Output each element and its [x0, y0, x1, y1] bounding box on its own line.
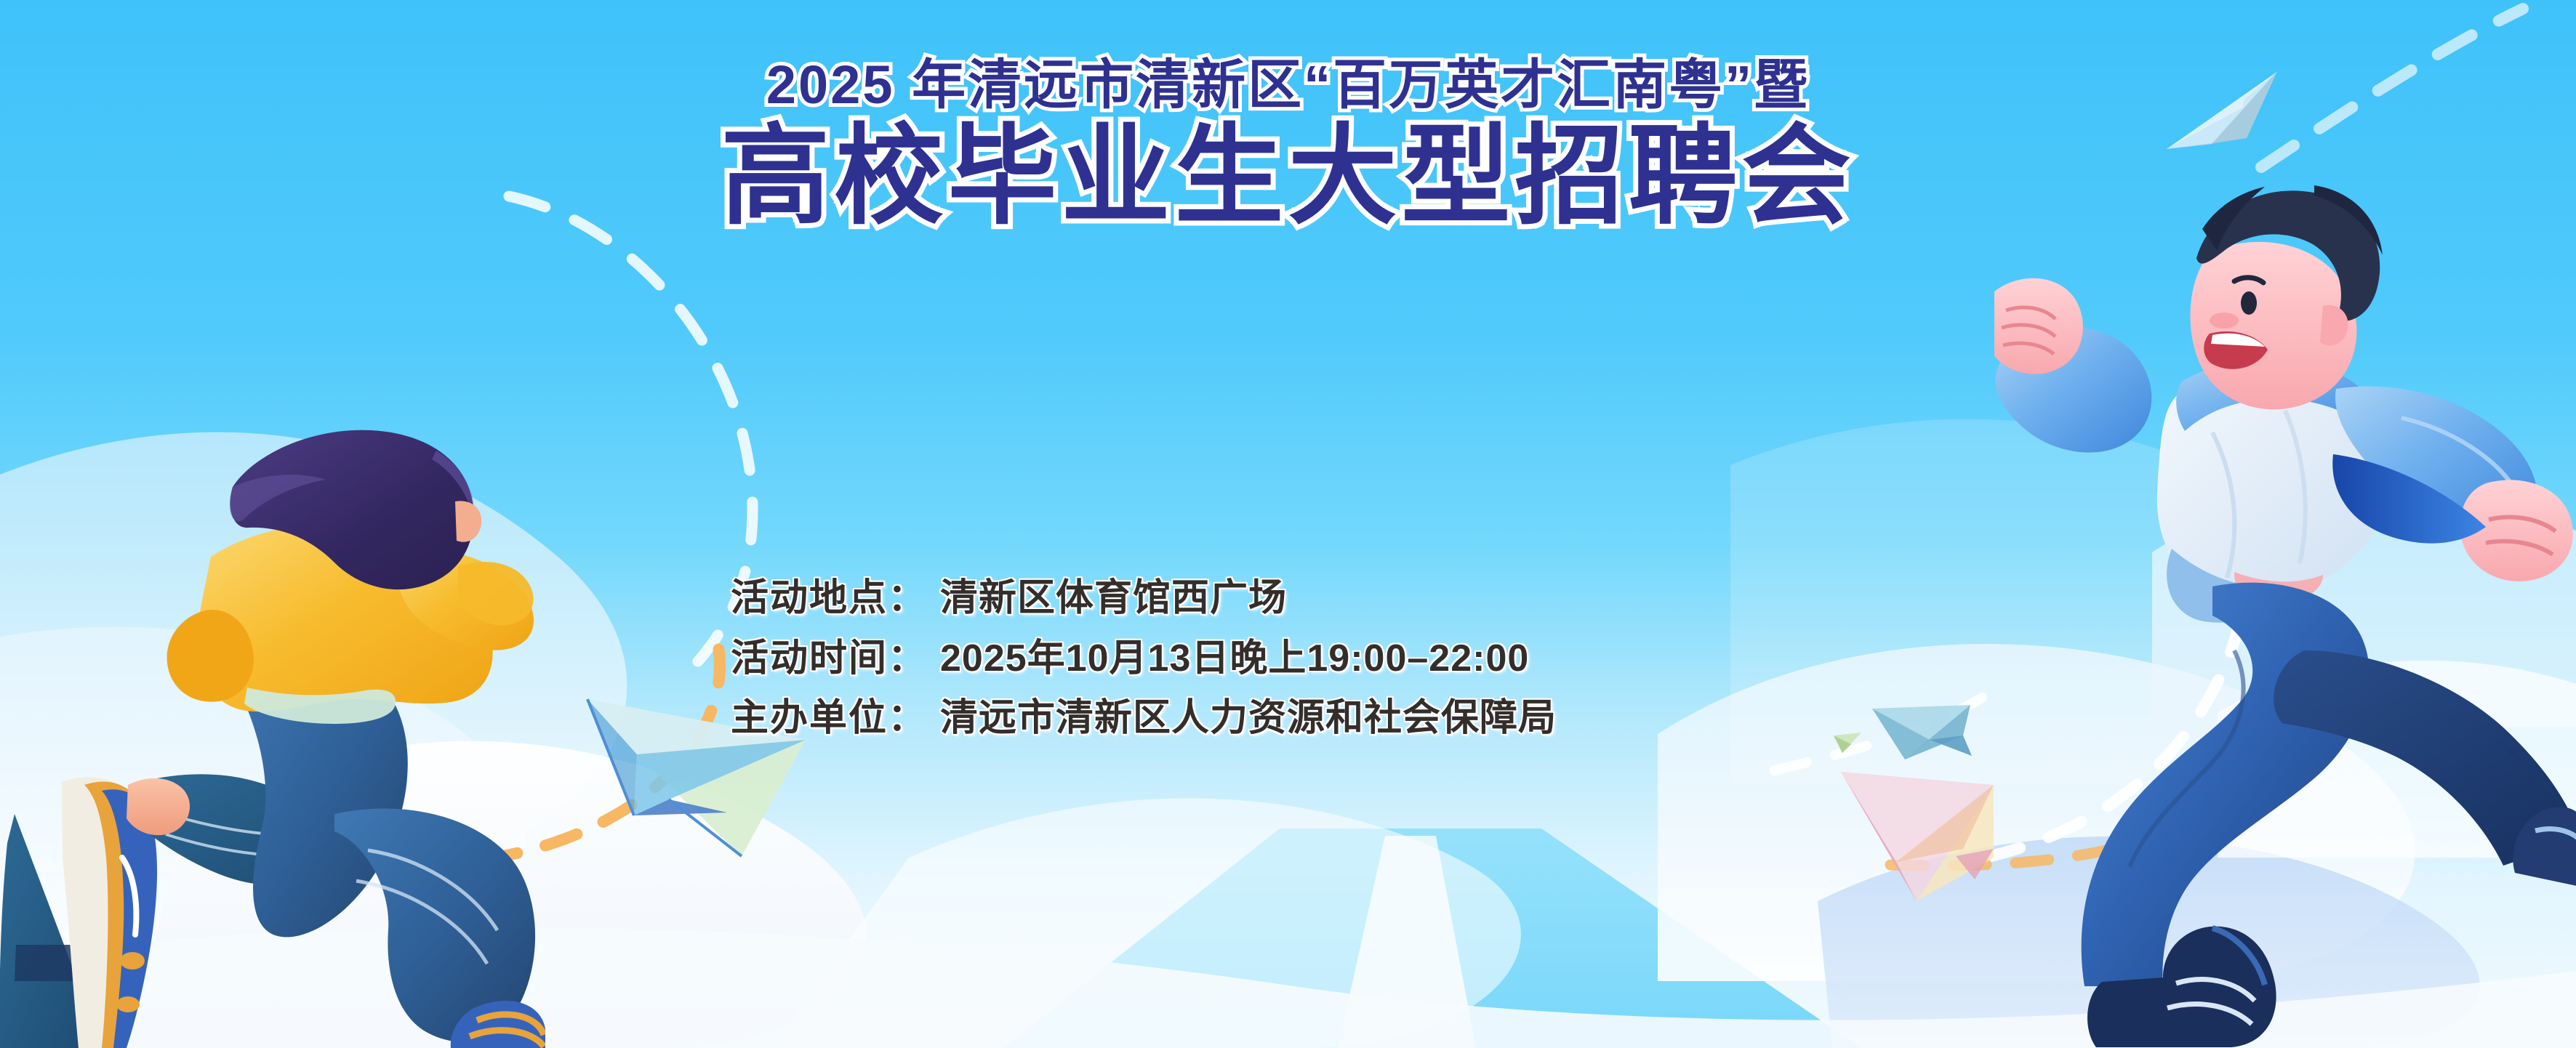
woman-left-sleeve [167, 610, 254, 702]
event-location-value: 清新区体育馆西广场 [940, 574, 1287, 623]
event-organizer-row: 主办单位： 清远市清新区人力资源和社会保障局 [731, 694, 1557, 743]
man-front-leg [2082, 583, 2370, 986]
event-time-value: 2025年10月13日晚上19:00–22:00 [940, 634, 1529, 683]
running-woman-illustration [0, 407, 545, 1048]
title-block: 2025 年清远市清新区“百万英才汇南粤”暨 高校毕业生大型招聘会 [0, 55, 2576, 234]
page-title-line2: 高校毕业生大型招聘会 [0, 118, 2576, 234]
event-time-row: 活动时间： 2025年10月13日晚上19:00–22:00 [731, 634, 1557, 683]
running-man-illustration [1994, 142, 2576, 1048]
event-info-block: 活动地点： 清新区体育馆西广场 活动时间： 2025年10月13日晚上19:00… [731, 574, 1557, 743]
event-organizer-value: 清远市清新区人力资源和社会保障局 [940, 694, 1557, 743]
page-title-line1: 2025 年清远市清新区“百万英才汇南粤”暨 [0, 55, 2576, 116]
event-time-label: 活动时间： [731, 634, 927, 683]
event-organizer-label: 主办单位： [731, 694, 927, 743]
man-rear-fist [1994, 278, 2083, 374]
event-location-row: 活动地点： 清新区体育馆西广场 [731, 574, 1557, 623]
recruitment-fair-banner: 2025 年清远市清新区“百万英才汇南粤”暨 高校毕业生大型招聘会 活动地点： … [0, 0, 2576, 1048]
event-location-label: 活动地点： [731, 574, 927, 623]
woman-ankle [127, 778, 190, 835]
man-eye [2241, 291, 2257, 315]
